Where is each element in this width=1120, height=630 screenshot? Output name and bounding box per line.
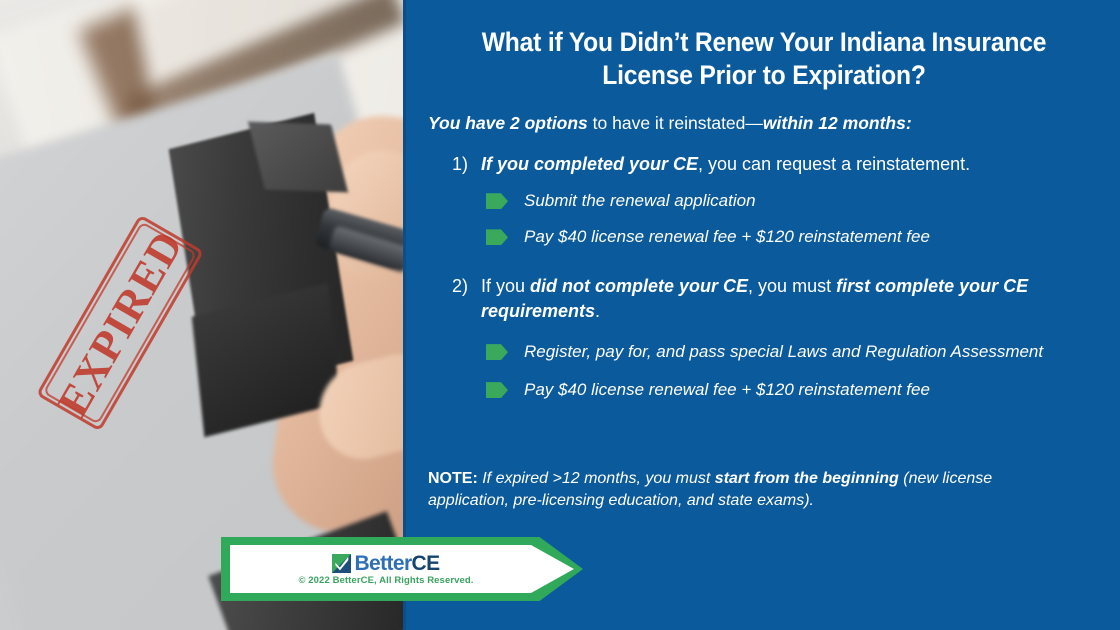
sub-bullet: Pay $40 license renewal fee + $120 reins… (486, 226, 1079, 248)
branding-badge: BetterCE © 2022 BetterCE, All Rights Res… (221, 537, 583, 601)
list-item-bold-lead: did not complete your CE (530, 276, 748, 296)
list-item-text: If you did not complete your CE, you mus… (452, 274, 1093, 323)
list-item-text: If you completed your CE, you can reques… (452, 152, 1093, 176)
lead-strong-end: within 12 months: (763, 113, 912, 133)
page-title: What if You Didn’t Renew Your Indiana In… (464, 26, 1065, 91)
note-label: NOTE: (428, 470, 478, 487)
list-item-rest: . (595, 301, 600, 321)
logo-wordmark: BetterCE (354, 553, 439, 574)
sub-bullet-text: Register, pay for, and pass special Laws… (524, 342, 1043, 361)
arrow-bullet-icon (486, 344, 508, 360)
sub-bullet: Pay $40 license renewal fee + $120 reins… (486, 379, 1079, 401)
lead-middle: to have it reinstated— (588, 113, 763, 133)
branding-badge-content: BetterCE © 2022 BetterCE, All Rights Res… (230, 545, 542, 593)
arrow-bullet-icon (486, 193, 508, 209)
logo[interactable]: BetterCE (332, 553, 439, 574)
list-item-bold-lead: If you completed your CE (481, 154, 698, 174)
slide-root: EXPIRED What if You Didn’t Renew Your In… (0, 0, 1120, 630)
logo-word-ce: CE (412, 552, 440, 575)
list-item-number: 1) (452, 152, 468, 176)
sub-bullet: Submit the renewal application (486, 190, 1079, 212)
copyright-text: © 2022 BetterCE, All Rights Reserved. (298, 575, 473, 586)
list-item-rest: , you can request a reinstatement. (698, 154, 970, 174)
hero-photo: EXPIRED (0, 0, 403, 630)
list-item: 2) If you did not complete your CE, you … (428, 274, 1093, 323)
branding-badge-inner: BetterCE © 2022 BetterCE, All Rights Res… (230, 545, 574, 593)
arrow-bullet-icon (486, 229, 508, 245)
list-item-number: 2) (452, 274, 468, 298)
sub-bullet-text: Submit the renewal application (524, 191, 756, 210)
panel-left-edge (403, 0, 406, 630)
note-bold: start from the beginning (715, 470, 899, 487)
sub-bullet: Register, pay for, and pass special Laws… (486, 341, 1079, 363)
list-item: 1) If you completed your CE, you can req… (428, 152, 1093, 176)
list-item-pre: If you (481, 276, 530, 296)
options-list: 1) If you completed your CE, you can req… (428, 152, 1093, 401)
photo-stamp-top-face (248, 122, 348, 193)
note-paragraph: NOTE: If expired >12 months, you must st… (428, 468, 1068, 511)
betterce-checkmark-logo-icon (332, 554, 351, 573)
lead-paragraph: You have 2 options to have it reinstated… (428, 112, 1088, 135)
note-text-start: If expired >12 months, you must (478, 470, 715, 487)
logo-word-better: Better (354, 552, 411, 575)
lead-strong-start: You have 2 options (428, 113, 588, 133)
list-item-mid: , you must (748, 276, 836, 296)
sub-bullet-text: Pay $40 license renewal fee + $120 reins… (524, 380, 930, 399)
sub-bullet-text: Pay $40 license renewal fee + $120 reins… (524, 227, 930, 246)
arrow-bullet-icon (486, 382, 508, 398)
